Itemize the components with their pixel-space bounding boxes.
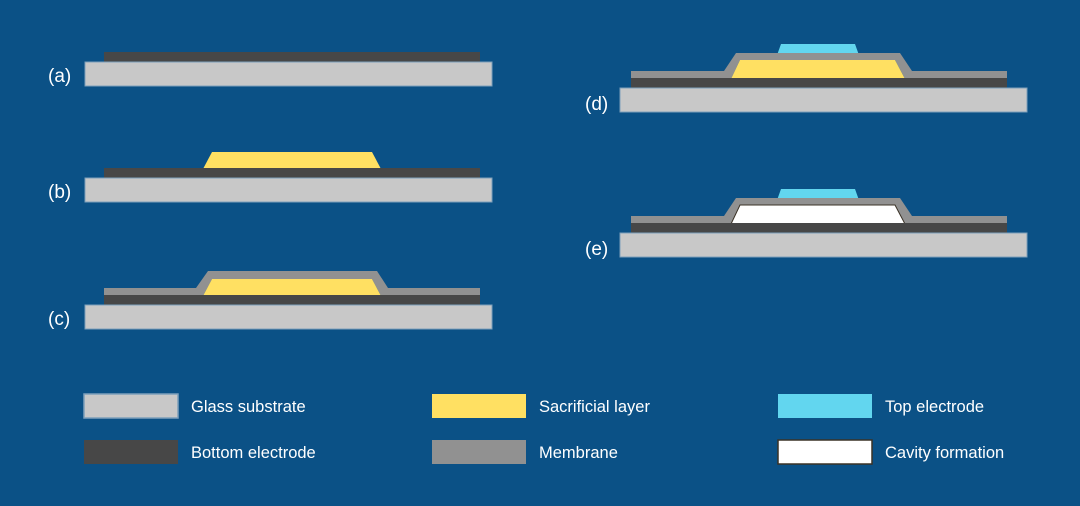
panel-e-cavity [731, 205, 905, 224]
panel-b-bottom-electrode [104, 168, 480, 179]
diagram-canvas: (a) (b) (c) (d) [0, 0, 1080, 506]
panel-a-glass-substrate [85, 62, 492, 86]
legend-label-bottom-electrode: Bottom electrode [191, 444, 316, 462]
legend-swatch-sacrificial-layer [432, 394, 526, 418]
panel-d-label: (d) [585, 94, 608, 115]
panel-b-sacrificial-layer [203, 152, 381, 169]
legend-label-top-electrode: Top electrode [885, 398, 984, 416]
legend-label-sacrificial-layer: Sacrificial layer [539, 398, 650, 416]
legend-swatch-top-electrode [778, 394, 872, 418]
legend-label-membrane: Membrane [539, 444, 618, 462]
legend-swatch-cavity-formation [778, 440, 872, 464]
panel-e-bottom-electrode [631, 223, 1007, 234]
panel-a: (a) [48, 52, 492, 87]
legend-label-cavity-formation: Cavity formation [885, 444, 1004, 462]
legend-swatch-glass-substrate [84, 394, 178, 418]
panel-d-bottom-electrode [631, 78, 1007, 89]
panel-a-bottom-electrode [104, 52, 480, 63]
panel-b-glass-substrate [85, 178, 492, 202]
panel-b-label: (b) [48, 182, 71, 203]
panel-e-label: (e) [585, 239, 608, 260]
panel-d-glass-substrate [620, 88, 1027, 112]
legend-label-glass-substrate: Glass substrate [191, 398, 306, 416]
legend-swatch-bottom-electrode [84, 440, 178, 464]
panel-c-glass-substrate [85, 305, 492, 329]
panel-c-sacrificial-layer [203, 279, 381, 296]
panel-c-bottom-electrode [104, 295, 480, 306]
panel-e-glass-substrate [620, 233, 1027, 257]
panel-c-label: (c) [48, 309, 70, 330]
legend-swatch-membrane [432, 440, 526, 464]
panel-a-label: (a) [48, 66, 71, 87]
process-flow-figure: (a) (b) (c) (d) [0, 0, 1080, 506]
panel-d-sacrificial-layer [731, 60, 905, 79]
